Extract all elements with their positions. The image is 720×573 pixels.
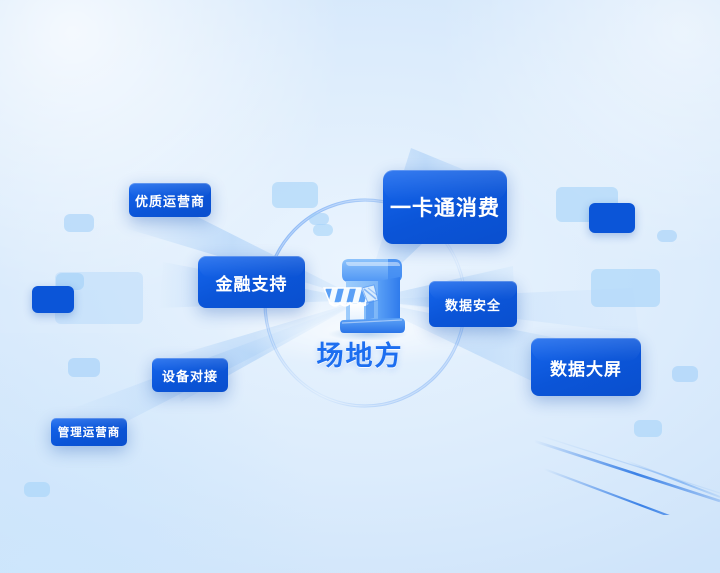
- diagonal-speed-lines: [530, 405, 720, 515]
- decor-rect-right-lower2: [634, 420, 662, 437]
- node-label: 金融支持: [216, 270, 288, 295]
- node-chip-quality-operator[interactable]: 优质运营商: [129, 183, 211, 217]
- decor-rect-left-small: [64, 214, 94, 232]
- node-label: 优质运营商: [135, 191, 205, 210]
- infographic-canvas: 场地方 一卡通消费 数据大屏 金融支持 数据安全 优质运营商 设备对接 管理运营…: [0, 0, 720, 573]
- corner-glow-top-left: [0, 0, 360, 290]
- node-chip-data-screen[interactable]: 数据大屏: [531, 338, 641, 396]
- decor-rect-left-lower2: [24, 482, 50, 497]
- decor-rect-top-center: [272, 182, 318, 208]
- decor-rect-right-small: [657, 230, 677, 242]
- decor-rect-left-accent: [32, 286, 74, 313]
- node-chip-device-docking[interactable]: 设备对接: [152, 358, 228, 392]
- node-label: 数据大屏: [550, 355, 622, 380]
- node-chip-data-security[interactable]: 数据安全: [429, 281, 517, 327]
- node-chip-finance[interactable]: 金融支持: [198, 256, 305, 308]
- node-label: 一卡通消费: [390, 192, 500, 222]
- decor-rect-top-center2: [309, 213, 329, 225]
- decor-rect-right-large: [591, 269, 660, 307]
- decor-rect-left-mid: [56, 273, 84, 290]
- node-label: 数据安全: [445, 295, 501, 314]
- decor-rect-mid-center: [313, 224, 333, 236]
- shop-storefront-icon: [316, 248, 414, 340]
- decor-rect-right-top: [556, 187, 618, 222]
- node-label: 设备对接: [162, 366, 218, 385]
- node-chip-yikatong[interactable]: 一卡通消费: [383, 170, 507, 244]
- node-chip-management-operator[interactable]: 管理运营商: [51, 418, 127, 446]
- decor-rect-left-large: [55, 272, 143, 324]
- node-label: 管理运营商: [58, 424, 121, 440]
- decor-rect-right-accent: [589, 203, 635, 233]
